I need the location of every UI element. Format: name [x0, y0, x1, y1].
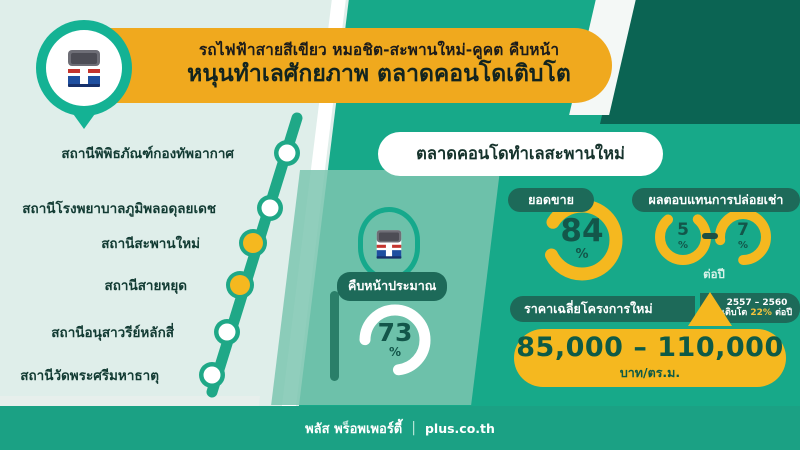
price-range-unit: บาท/ตร.ม.	[620, 363, 680, 383]
train-icon	[58, 42, 110, 94]
range-dash-icon	[702, 233, 718, 239]
rental-yield-label-pill: ผลตอบแทนการปล่อยเช่า	[632, 188, 800, 212]
price-growth-suffix: ต่อปี	[772, 308, 792, 318]
rental-yield-high-donut	[712, 206, 774, 268]
progress-vertical-bar	[330, 291, 339, 381]
footer-url[interactable]: plus.co.th	[425, 421, 495, 436]
price-range-box: 85,000 – 110,000 บาท/ตร.ม.	[514, 329, 786, 387]
progress-donut-chart	[355, 300, 435, 380]
header-banner: รถไฟฟ้าสายสีเขียว หมอชิต-สะพานใหม่-คูคต …	[92, 28, 612, 103]
progress-label-pill: คืบหน้าประมาณ	[337, 272, 447, 301]
rental-yield-footnote: ต่อปี	[660, 266, 768, 284]
price-growth-line: เติบโต 22% ต่อปี	[722, 308, 792, 318]
progress-train-pin	[358, 207, 420, 281]
header-train-pin-inner	[46, 30, 122, 106]
station-label-6[interactable]: สถานีวัดพระศรีมหาธาตุ	[20, 364, 159, 386]
footer-separator: |	[411, 420, 416, 436]
price-range-value: 85,000 – 110,000	[516, 334, 783, 361]
growth-triangle-icon	[688, 292, 732, 326]
footer-brand: พลัส พร็อพเพอร์ตี้	[305, 418, 402, 439]
market-title: ตลาดคอนโดทำเลสะพานใหม่	[416, 141, 625, 167]
train-icon	[369, 224, 409, 264]
footer: พลัส พร็อพเพอร์ตี้ | plus.co.th	[0, 406, 800, 450]
station-label-4[interactable]: สถานีสายหยุด	[104, 274, 187, 296]
station-label-list: สถานีพิพิธภัณฑ์กองทัพอากาศ สถานีโรงพยาบา…	[0, 110, 300, 400]
price-growth-value: 22%	[750, 308, 772, 318]
station-label-3[interactable]: สถานีสะพานใหม่	[101, 232, 200, 254]
infographic-canvas: รถไฟฟ้าสายสีเขียว หมอชิต-สะพานใหม่-คูคต …	[0, 0, 800, 450]
station-label-2[interactable]: สถานีโรงพยาบาลภูมิพลอดุลยเดช	[22, 197, 216, 219]
header-subtitle: รถไฟฟ้าสายสีเขียว หมอชิต-สะพานใหม่-คูคต …	[199, 42, 559, 59]
price-label-pill: ราคาเฉลี่ยโครงการใหม่	[510, 296, 695, 322]
market-title-bubble: ตลาดคอนโดทำเลสะพานใหม่	[378, 132, 663, 176]
station-label-5[interactable]: สถานีอนุสาวรีย์หลักสี่	[51, 321, 174, 343]
header-title: หนุนทำเลศักยภาพ ตลาดคอนโดเติบโต	[187, 61, 571, 89]
station-label-1[interactable]: สถานีพิพิธภัณฑ์กองทัพอากาศ	[61, 142, 234, 164]
price-year-range: 2557 – 2560	[727, 298, 788, 308]
header-train-pin	[36, 20, 132, 116]
sales-label-pill: ยอดขาย	[508, 188, 594, 212]
